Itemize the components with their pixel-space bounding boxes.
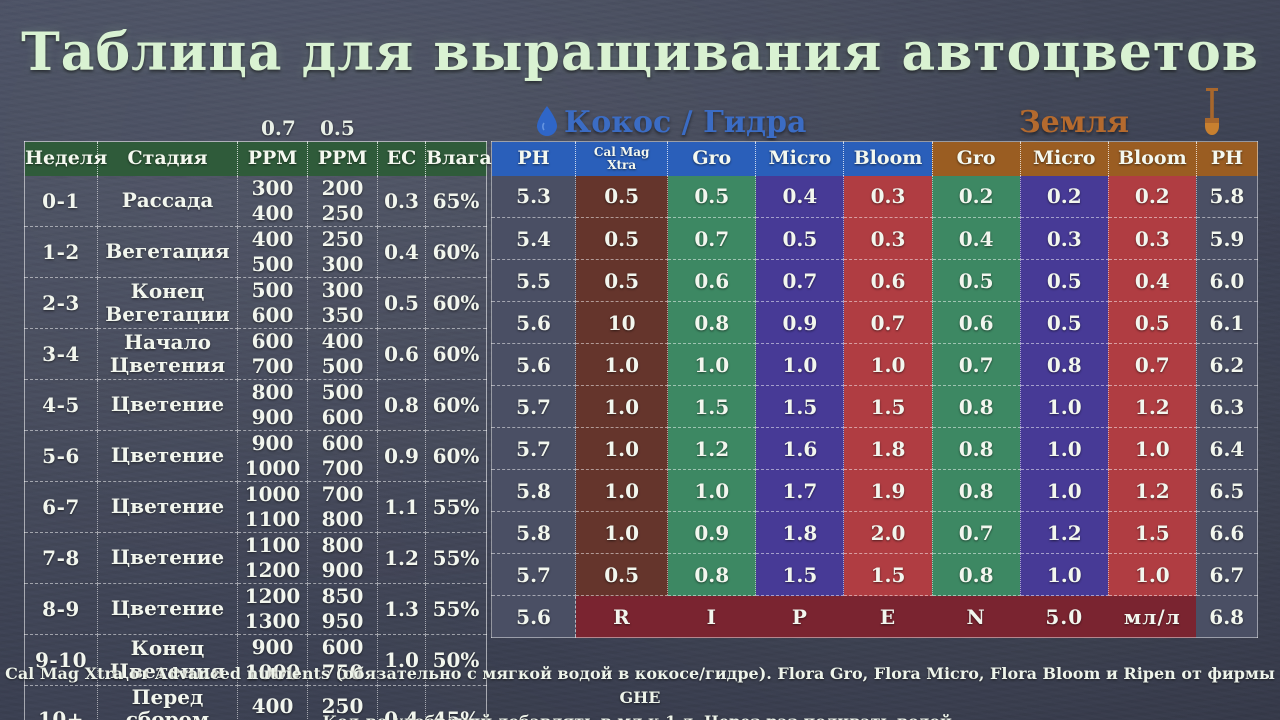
col-header-coco-ph: PH xyxy=(492,142,576,176)
col-header-ppm-07: PPM xyxy=(238,142,308,176)
cell-coco-gro: 1.5 xyxy=(668,386,756,428)
table-row: 5.40.50.70.50.30.40.30.35.9 xyxy=(492,218,1258,260)
cell-soil-ph: 6.6 xyxy=(1196,512,1257,554)
cell-coco-ph: 5.7 xyxy=(492,428,576,470)
cell-ppm-07: 300400 xyxy=(238,176,308,227)
ripen-letter: I xyxy=(668,596,756,638)
ppm07-high: 1000 xyxy=(238,456,307,481)
cell-ec: 1.2 xyxy=(378,532,426,583)
cell-humidity: 55% xyxy=(426,583,487,634)
ppm07-low: 900 xyxy=(252,431,294,455)
cell-soil-ph: 6.0 xyxy=(1196,260,1257,302)
cell-coco-ph: 5.6 xyxy=(492,344,576,386)
ppm07-high: 600 xyxy=(238,303,307,328)
cell-cal-mag-xtra: 1.0 xyxy=(576,344,668,386)
cell-ppm-07: 600700 xyxy=(238,328,308,379)
ppm07-low: 1100 xyxy=(245,533,301,557)
cell-soil-micro: 1.0 xyxy=(1020,386,1108,428)
ppm07-low: 800 xyxy=(252,380,294,404)
ppm07-high: 500 xyxy=(238,252,307,277)
cell-coco-bloom: 1.8 xyxy=(844,428,932,470)
cell-soil-bloom: 0.7 xyxy=(1108,344,1196,386)
cell-week: 0-1 xyxy=(25,176,98,227)
ppm07-low: 500 xyxy=(252,278,294,302)
cell-coco-ph: 5.8 xyxy=(492,470,576,512)
cell-stage: Цветение xyxy=(98,532,238,583)
cell-soil-bloom: 1.5 xyxy=(1108,512,1196,554)
ppm05-high: 800 xyxy=(308,507,377,532)
grow-parameters-table: Неделя Стадия PPM PPM EC Влага 0-1Рассад… xyxy=(24,141,487,720)
cell-humidity: 55% xyxy=(426,532,487,583)
ppm05-high: 300 xyxy=(308,252,377,277)
cell-ec: 1.3 xyxy=(378,583,426,634)
ppm07-low: 600 xyxy=(252,329,294,353)
cell-soil-gro: 0.2 xyxy=(932,176,1020,218)
ppm07-low: 900 xyxy=(252,635,294,659)
cell-coco-bloom: 2.0 xyxy=(844,512,932,554)
cell-soil-gro: 0.5 xyxy=(932,260,1020,302)
cell-coco-bloom: 0.3 xyxy=(844,176,932,218)
ppm05-low: 600 xyxy=(322,431,364,455)
cell-ppm-07: 400500 xyxy=(238,226,308,277)
table-row: 5.50.50.60.70.60.50.50.46.0 xyxy=(492,260,1258,302)
cell-week: 6-7 xyxy=(25,481,98,532)
cell-ec: 0.6 xyxy=(378,328,426,379)
cell-coco-micro: 1.0 xyxy=(756,344,844,386)
cell-coco-ph: 5.6 xyxy=(492,596,576,638)
cell-cal-mag-xtra: 1.0 xyxy=(576,470,668,512)
ppm05-high: 350 xyxy=(308,303,377,328)
cell-coco-gro: 1.0 xyxy=(668,470,756,512)
cell-ppm-05: 850950 xyxy=(308,583,378,634)
ppm05-low: 250 xyxy=(322,227,364,251)
cell-soil-bloom: 1.0 xyxy=(1108,428,1196,470)
cell-coco-micro: 0.7 xyxy=(756,260,844,302)
cell-cal-mag-xtra: 0.5 xyxy=(576,218,668,260)
cell-stage: Цветение xyxy=(98,430,238,481)
cell-coco-micro: 1.5 xyxy=(756,386,844,428)
ripen-row: 5.6RIPEN5.0мл/л6.8 xyxy=(492,596,1258,638)
col-header-coco-micro: Micro xyxy=(756,142,844,176)
water-drop-icon xyxy=(536,106,558,136)
table-row: 5.61.01.01.01.00.70.80.76.2 xyxy=(492,344,1258,386)
ppm05-high: 600 xyxy=(308,405,377,430)
table-row: 5.81.01.01.71.90.81.01.26.5 xyxy=(492,470,1258,512)
cell-soil-gro: 0.4 xyxy=(932,218,1020,260)
cell-soil-bloom: 1.2 xyxy=(1108,386,1196,428)
cell-coco-micro: 1.6 xyxy=(756,428,844,470)
cell-ppm-07: 11001200 xyxy=(238,532,308,583)
cell-ppm-05: 200250 xyxy=(308,176,378,227)
col-header-soil-micro: Micro xyxy=(1020,142,1108,176)
cell-coco-gro: 1.2 xyxy=(668,428,756,470)
cell-coco-gro: 1.0 xyxy=(668,344,756,386)
cell-soil-gro: 0.7 xyxy=(932,512,1020,554)
cell-soil-micro: 0.3 xyxy=(1020,218,1108,260)
cell-cal-mag-xtra: 1.0 xyxy=(576,428,668,470)
table-row: 5.6100.80.90.70.60.50.56.1 xyxy=(492,302,1258,344)
col-header-coco-gro: Gro xyxy=(668,142,756,176)
cell-soil-gro: 0.8 xyxy=(932,470,1020,512)
cell-coco-ph: 5.3 xyxy=(492,176,576,218)
ppm05-high: 900 xyxy=(308,558,377,583)
ppm05-low: 200 xyxy=(322,176,364,200)
cell-humidity: 60% xyxy=(426,328,487,379)
cell-soil-bloom: 0.2 xyxy=(1108,176,1196,218)
cell-soil-ph: 5.8 xyxy=(1196,176,1257,218)
cell-soil-bloom: 0.5 xyxy=(1108,302,1196,344)
ppm07-low: 300 xyxy=(252,176,294,200)
cell-soil-bloom: 1.0 xyxy=(1108,554,1196,596)
ppm05-low: 600 xyxy=(322,635,364,659)
cell-week: 4-5 xyxy=(25,379,98,430)
cell-coco-gro: 0.7 xyxy=(668,218,756,260)
cell-stage: Цветение xyxy=(98,379,238,430)
cell-coco-micro: 0.5 xyxy=(756,218,844,260)
cell-soil-ph: 6.7 xyxy=(1196,554,1257,596)
col-header-stage: Стадия xyxy=(98,142,238,176)
ppm05-low: 700 xyxy=(322,482,364,506)
cell-stage: Конец Вегетации xyxy=(98,277,238,328)
table-row: 5-6Цветение90010006007000.960% xyxy=(25,430,487,481)
cell-coco-bloom: 0.6 xyxy=(844,260,932,302)
cell-coco-ph: 5.4 xyxy=(492,218,576,260)
cell-soil-gro: 0.8 xyxy=(932,554,1020,596)
cell-soil-micro: 0.5 xyxy=(1020,302,1108,344)
page-title: Таблица для выращивания автоцветов xyxy=(0,22,1280,83)
cell-ppm-05: 800900 xyxy=(308,532,378,583)
cell-soil-bloom: 0.4 xyxy=(1108,260,1196,302)
col-header-soil-bloom: Bloom xyxy=(1108,142,1196,176)
cell-ppm-05: 300350 xyxy=(308,277,378,328)
cell-soil-bloom: 1.2 xyxy=(1108,470,1196,512)
cell-stage: Начало Цветения xyxy=(98,328,238,379)
ppm07-low: 400 xyxy=(252,227,294,251)
cell-coco-micro: 0.9 xyxy=(756,302,844,344)
table-row: 5.71.01.21.61.80.81.01.06.4 xyxy=(492,428,1258,470)
cell-soil-ph: 6.3 xyxy=(1196,386,1257,428)
cell-stage: Цветение xyxy=(98,583,238,634)
cell-coco-ph: 5.6 xyxy=(492,302,576,344)
table-row: 3-4Начало Цветения6007004005000.660% xyxy=(25,328,487,379)
ripen-letter: E xyxy=(844,596,932,638)
cell-soil-ph: 6.2 xyxy=(1196,344,1257,386)
ppm05-high: 500 xyxy=(308,354,377,379)
footer-line-1: Cal Mag Xtra от Advanced nutrients (обяз… xyxy=(0,662,1280,710)
table-row: 6-7Цветение100011007008001.155% xyxy=(25,481,487,532)
cell-stage: Цветение xyxy=(98,481,238,532)
cell-soil-micro: 1.0 xyxy=(1020,428,1108,470)
ppm05-low: 500 xyxy=(322,380,364,404)
cell-stage: Рассада xyxy=(98,176,238,227)
cell-soil-ph: 6.5 xyxy=(1196,470,1257,512)
ripen-dose: 5.0 xyxy=(1020,596,1108,638)
cell-cal-mag-xtra: 0.5 xyxy=(576,176,668,218)
cell-cal-mag-xtra: 0.5 xyxy=(576,260,668,302)
cell-humidity: 60% xyxy=(426,430,487,481)
ppm07-high: 1300 xyxy=(238,609,307,634)
cell-coco-gro: 0.9 xyxy=(668,512,756,554)
cell-coco-micro: 1.7 xyxy=(756,470,844,512)
col-header-week: Неделя xyxy=(25,142,98,176)
ppm05-low: 800 xyxy=(322,533,364,557)
cell-coco-bloom: 1.9 xyxy=(844,470,932,512)
cell-ppm-05: 500600 xyxy=(308,379,378,430)
cell-cal-mag-xtra: 1.0 xyxy=(576,386,668,428)
cell-soil-ph: 6.4 xyxy=(1196,428,1257,470)
ppm05-low: 400 xyxy=(322,329,364,353)
left-table-header-row: Неделя Стадия PPM PPM EC Влага xyxy=(25,142,487,176)
cell-ppm-05: 250300 xyxy=(308,226,378,277)
chalkboard-grow-chart: Таблица для выращивания автоцветов 0.7 0… xyxy=(0,0,1280,720)
cell-humidity: 60% xyxy=(426,277,487,328)
footer-line-2: Кол-во удобрений добавлять в мл к 1 л. Ч… xyxy=(0,710,1280,720)
cell-week: 1-2 xyxy=(25,226,98,277)
cell-soil-gro: 0.6 xyxy=(932,302,1020,344)
ppm07-high: 1100 xyxy=(238,507,307,532)
cell-ec: 0.9 xyxy=(378,430,426,481)
cell-soil-ph: 6.1 xyxy=(1196,302,1257,344)
cell-humidity: 65% xyxy=(426,176,487,227)
ppm07-high: 1200 xyxy=(238,558,307,583)
col-header-coco-bloom: Bloom xyxy=(844,142,932,176)
cell-coco-gro: 0.6 xyxy=(668,260,756,302)
table-row: 2-3Конец Вегетации5006003003500.560% xyxy=(25,277,487,328)
right-table-header-row: PH Cal Mag Xtra Gro Micro Bloom Gro Micr… xyxy=(492,142,1258,176)
section-label-coco-hydro: Кокос / Гидра xyxy=(564,105,806,140)
table-row: 1-2Вегетация4005002503000.460% xyxy=(25,226,487,277)
cell-humidity: 60% xyxy=(426,226,487,277)
cell-ppm-05: 600700 xyxy=(308,430,378,481)
cell-coco-gro: 0.8 xyxy=(668,302,756,344)
cell-coco-ph: 5.7 xyxy=(492,386,576,428)
cell-coco-bloom: 1.5 xyxy=(844,386,932,428)
cell-soil-micro: 0.2 xyxy=(1020,176,1108,218)
ppm-factor-05-label: 0.5 xyxy=(320,116,355,140)
cell-ec: 0.4 xyxy=(378,226,426,277)
footer-notes: Cal Mag Xtra от Advanced nutrients (обяз… xyxy=(0,662,1280,720)
cell-soil-micro: 1.0 xyxy=(1020,470,1108,512)
cell-ec: 0.3 xyxy=(378,176,426,227)
ripen-letter: R xyxy=(576,596,668,638)
cell-week: 3-4 xyxy=(25,328,98,379)
ppm07-high: 900 xyxy=(238,405,307,430)
col-header-ppm-05: PPM xyxy=(308,142,378,176)
cell-ppm-05: 400500 xyxy=(308,328,378,379)
shovel-icon xyxy=(1199,88,1225,140)
cell-ec: 0.8 xyxy=(378,379,426,430)
cell-coco-micro: 1.5 xyxy=(756,554,844,596)
cell-ppm-07: 10001100 xyxy=(238,481,308,532)
cell-soil-gro: 0.7 xyxy=(932,344,1020,386)
section-label-soil: Земля xyxy=(1019,105,1129,140)
cell-coco-ph: 5.7 xyxy=(492,554,576,596)
cell-week: 8-9 xyxy=(25,583,98,634)
cell-cal-mag-xtra: 1.0 xyxy=(576,512,668,554)
col-header-ec: EC xyxy=(378,142,426,176)
cal-mag-line2: Xtra xyxy=(607,158,636,172)
cell-coco-bloom: 1.0 xyxy=(844,344,932,386)
table-row: 8-9Цветение120013008509501.355% xyxy=(25,583,487,634)
table-row: 5.70.50.81.51.50.81.01.06.7 xyxy=(492,554,1258,596)
ppm07-high: 700 xyxy=(238,354,307,379)
cell-soil-gro: 0.8 xyxy=(932,428,1020,470)
cell-coco-ph: 5.8 xyxy=(492,512,576,554)
nutrient-schedule-table: PH Cal Mag Xtra Gro Micro Bloom Gro Micr… xyxy=(491,141,1258,638)
cell-coco-ph: 5.5 xyxy=(492,260,576,302)
cell-ppm-07: 9001000 xyxy=(238,430,308,481)
cell-coco-bloom: 0.7 xyxy=(844,302,932,344)
table-row: 4-5Цветение8009005006000.860% xyxy=(25,379,487,430)
cell-ec: 1.1 xyxy=(378,481,426,532)
col-header-humidity: Влага xyxy=(426,142,487,176)
cell-ppm-05: 700800 xyxy=(308,481,378,532)
cell-soil-micro: 0.8 xyxy=(1020,344,1108,386)
cell-humidity: 55% xyxy=(426,481,487,532)
cell-soil-ph: 6.8 xyxy=(1196,596,1257,638)
cell-cal-mag-xtra: 10 xyxy=(576,302,668,344)
cell-soil-micro: 1.0 xyxy=(1020,554,1108,596)
cell-week: 2-3 xyxy=(25,277,98,328)
cell-stage: Вегетация xyxy=(98,226,238,277)
cell-coco-micro: 1.8 xyxy=(756,512,844,554)
ripen-letter: P xyxy=(756,596,844,638)
cell-ec: 0.5 xyxy=(378,277,426,328)
cell-ppm-07: 500600 xyxy=(238,277,308,328)
cell-coco-bloom: 0.3 xyxy=(844,218,932,260)
cell-ppm-07: 12001300 xyxy=(238,583,308,634)
cell-soil-micro: 0.5 xyxy=(1020,260,1108,302)
ppm05-low: 850 xyxy=(322,584,364,608)
ppm05-high: 950 xyxy=(308,609,377,634)
ppm05-high: 700 xyxy=(308,456,377,481)
cell-soil-ph: 5.9 xyxy=(1196,218,1257,260)
col-header-cal-mag-xtra: Cal Mag Xtra xyxy=(576,142,668,176)
cell-humidity: 60% xyxy=(426,379,487,430)
cell-coco-bloom: 1.5 xyxy=(844,554,932,596)
col-header-soil-gro: Gro xyxy=(932,142,1020,176)
cell-week: 7-8 xyxy=(25,532,98,583)
cell-coco-gro: 0.8 xyxy=(668,554,756,596)
cell-cal-mag-xtra: 0.5 xyxy=(576,554,668,596)
table-row: 5.30.50.50.40.30.20.20.25.8 xyxy=(492,176,1258,218)
col-header-soil-ph: PH xyxy=(1196,142,1257,176)
cell-soil-micro: 1.2 xyxy=(1020,512,1108,554)
ppm07-low: 1200 xyxy=(245,584,301,608)
cell-coco-micro: 0.4 xyxy=(756,176,844,218)
table-row: 5.71.01.51.51.50.81.01.26.3 xyxy=(492,386,1258,428)
ripen-letter: N xyxy=(932,596,1020,638)
ppm-factor-07-label: 0.7 xyxy=(261,116,296,140)
ppm07-low: 1000 xyxy=(245,482,301,506)
table-row: 0-1Рассада3004002002500.365% xyxy=(25,176,487,227)
table-row: 5.81.00.91.82.00.71.21.56.6 xyxy=(492,512,1258,554)
ppm05-low: 300 xyxy=(322,278,364,302)
ppm05-high: 250 xyxy=(308,201,377,226)
ripen-unit: мл/л xyxy=(1108,596,1196,638)
cell-ppm-07: 800900 xyxy=(238,379,308,430)
cell-soil-bloom: 0.3 xyxy=(1108,218,1196,260)
ppm07-high: 400 xyxy=(238,201,307,226)
cell-coco-gro: 0.5 xyxy=(668,176,756,218)
cell-week: 5-6 xyxy=(25,430,98,481)
table-row: 7-8Цветение110012008009001.255% xyxy=(25,532,487,583)
cell-soil-gro: 0.8 xyxy=(932,386,1020,428)
